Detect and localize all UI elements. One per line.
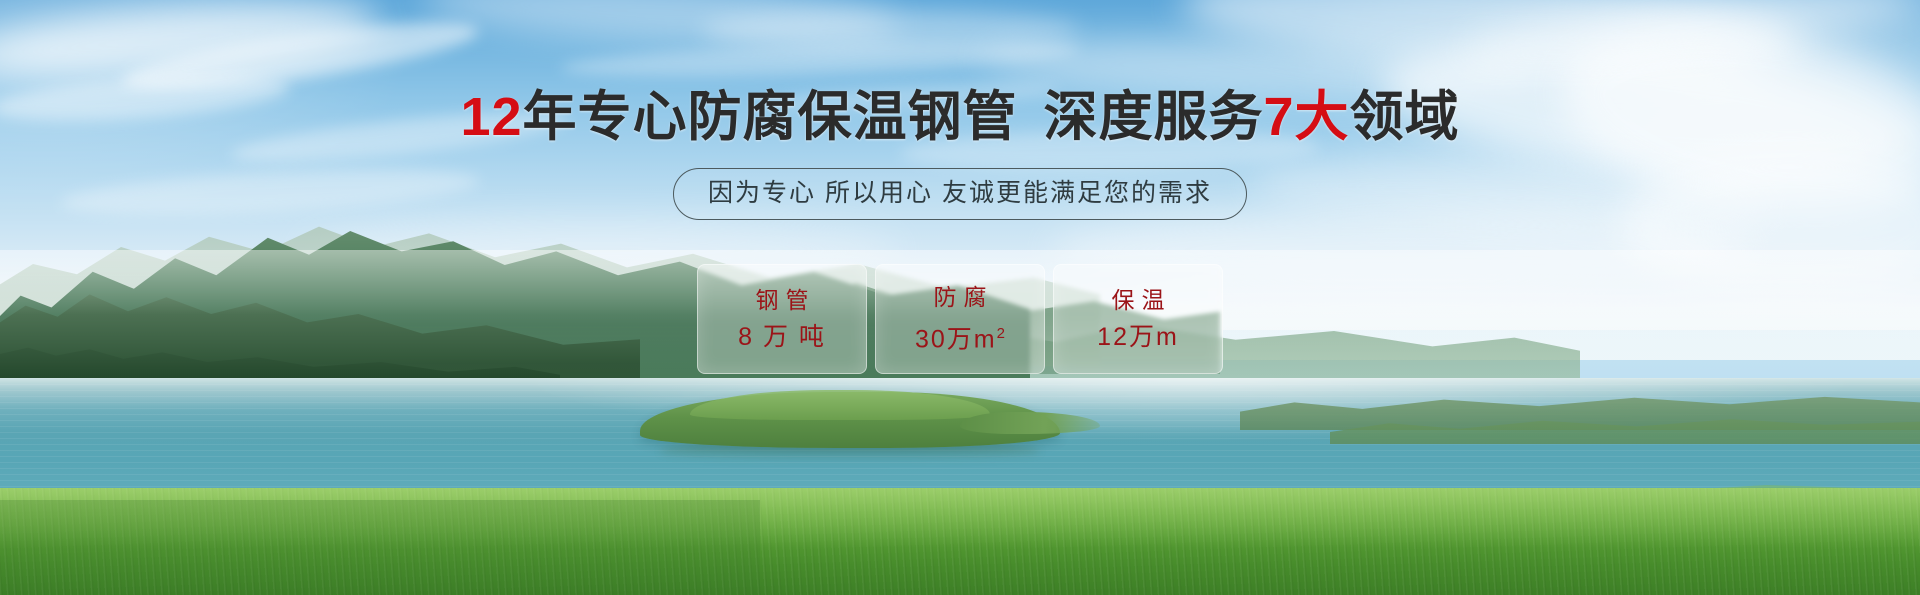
stat-card-group: 钢管 8 万 吨 防腐 30万m2 保温 12万m [0,264,1920,374]
stat-value-insulation: 12万m [1097,323,1179,351]
stat-label-anticorrosion: 防腐 [927,284,994,310]
stat-value-anticorrosion-sup: 2 [997,325,1005,342]
stat-value-steel-pipe: 8 万 吨 [738,323,826,351]
headline-seven-fields-accent: 7大 [1264,87,1350,147]
stat-label-steel-pipe: 钢管 [749,287,816,313]
stat-card-insulation[interactable]: 保温 12万m [1053,264,1223,374]
subtitle-pill: 因为专心 所以用心 友诚更能满足您的需求 [673,168,1247,220]
banner-content: 12年专心防腐保温钢管深度服务7大领域 因为专心 所以用心 友诚更能满足您的需求… [0,0,1920,595]
headline-part2-rest: 领域 [1350,87,1460,147]
hero-banner: 12年专心防腐保温钢管深度服务7大领域 因为专心 所以用心 友诚更能满足您的需求… [0,0,1920,595]
subtitle-container: 因为专心 所以用心 友诚更能满足您的需求 [0,168,1920,220]
headline-part2-pre: 深度服务 [1044,87,1264,147]
headline: 12年专心防腐保温钢管深度服务7大领域 [0,88,1920,146]
headline-part1-rest: 年专心防腐保温钢管 [523,87,1018,147]
stat-card-steel-pipe[interactable]: 钢管 8 万 吨 [697,264,867,374]
stat-card-anticorrosion[interactable]: 防腐 30万m2 [875,264,1045,374]
stat-label-insulation: 保温 [1105,287,1172,313]
headline-years-number: 12 [460,87,522,147]
stat-value-anticorrosion: 30万m2 [915,320,1005,353]
